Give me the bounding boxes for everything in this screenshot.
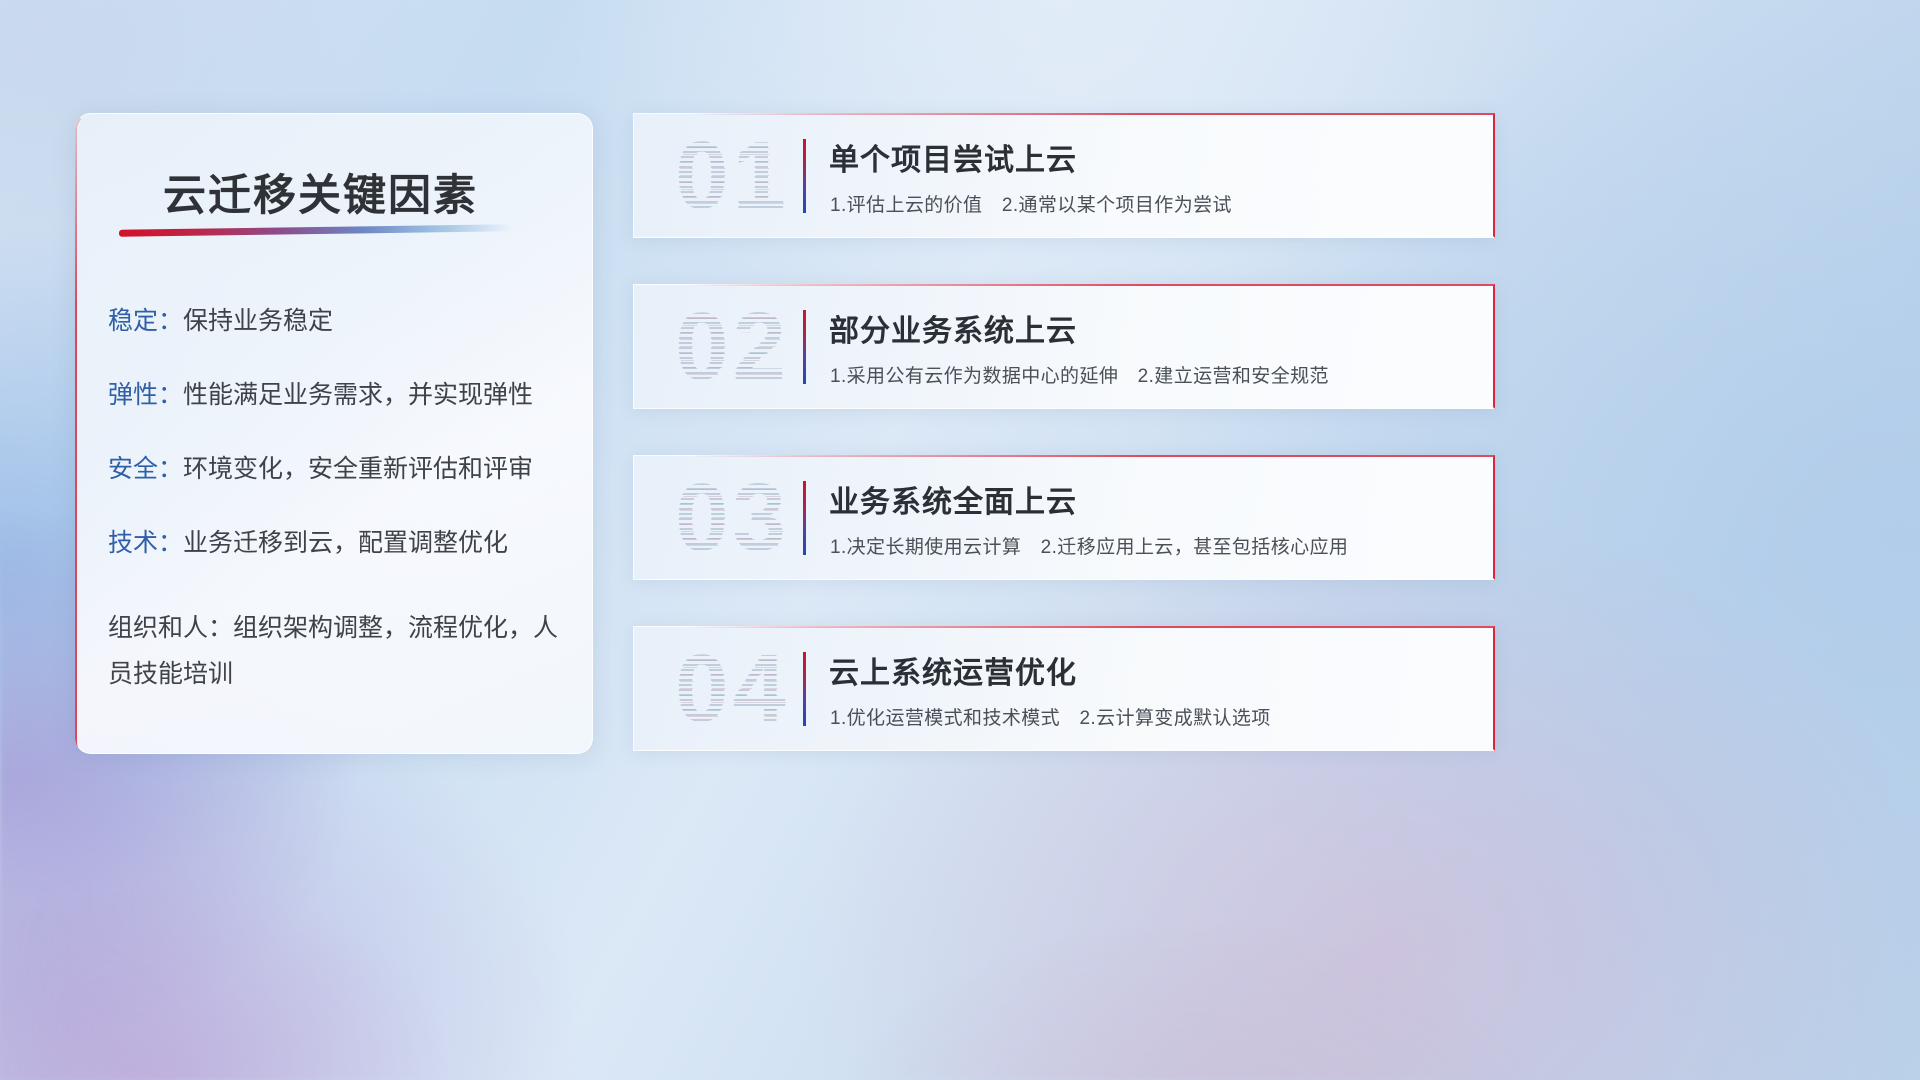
slide-stage: 云迁移关键因素 稳定：保持业务稳定 弹性：性能满足业务需求，并实现弹性 安全：环… (0, 0, 1920, 1080)
step-title: 单个项目尝试上云 (829, 135, 1077, 179)
key-factors-panel: 云迁移关键因素 稳定：保持业务稳定 弹性：性能满足业务需求，并实现弹性 安全：环… (75, 113, 593, 754)
step-title: 部分业务系统上云 (829, 306, 1077, 350)
step-card-04[interactable]: 04 04 云上系统运营优化 1.优化运营模式和技术模式 2.云计算变成默认选项 (633, 626, 1495, 751)
factor-label: 稳定： (108, 307, 183, 335)
step-number-watermark-tint: 01 (676, 127, 791, 227)
step-title: 云上系统运营优化 (829, 648, 1077, 692)
page-title: 云迁移关键因素 (163, 161, 478, 223)
step-card-01[interactable]: 01 01 单个项目尝试上云 1.评估上云的价值 2.通常以某个项目作为尝试 (633, 113, 1495, 238)
list-item: 安全：环境变化，安全重新评估和评审 (108, 457, 578, 482)
step-subtitle: 1.优化运营模式和技术模式 2.云计算变成默认选项 (830, 703, 1271, 730)
divider-bar-icon (803, 139, 806, 213)
factor-text: 环境变化，安全重新评估和评审 (183, 455, 533, 483)
step-card-03[interactable]: 03 03 业务系统全面上云 1.决定长期使用云计算 2.迁移应用上云，甚至包括… (633, 455, 1495, 580)
factor-label: 弹性： (108, 381, 183, 409)
list-item: 弹性：性能满足业务需求，并实现弹性 (108, 383, 578, 408)
step-subtitle: 1.决定长期使用云计算 2.迁移应用上云，甚至包括核心应用 (830, 532, 1348, 559)
step-number-watermark-tint: 03 (676, 469, 791, 569)
step-title: 业务系统全面上云 (829, 477, 1077, 521)
step-number-watermark-tint: 04 (676, 640, 791, 740)
list-item: 技术：业务迁移到云，配置调整优化 (108, 531, 578, 556)
step-subtitle: 1.采用公有云作为数据中心的延伸 2.建立运营和安全规范 (830, 361, 1329, 388)
factor-label: 技术： (108, 529, 183, 557)
factor-text: 业务迁移到云，配置调整优化 (183, 529, 508, 557)
factor-text: 保持业务稳定 (183, 307, 333, 335)
step-subtitle: 1.评估上云的价值 2.通常以某个项目作为尝试 (830, 190, 1232, 217)
step-number-watermark-tint: 02 (676, 298, 791, 398)
divider-bar-icon (803, 481, 806, 555)
divider-bar-icon (803, 310, 806, 384)
step-card-02[interactable]: 02 02 部分业务系统上云 1.采用公有云作为数据中心的延伸 2.建立运营和安… (633, 284, 1495, 409)
factor-label: 安全： (108, 455, 183, 483)
list-item: 稳定：保持业务稳定 (108, 309, 578, 334)
divider-bar-icon (803, 652, 806, 726)
factor-list: 稳定：保持业务稳定 弹性：性能满足业务需求，并实现弹性 安全：环境变化，安全重新… (108, 309, 578, 698)
title-underline-gradient (119, 224, 513, 237)
list-item: 组织和人：组织架构调整，流程优化，人员技能培训 (108, 605, 578, 698)
factor-text: 性能满足业务需求，并实现弹性 (183, 381, 533, 409)
